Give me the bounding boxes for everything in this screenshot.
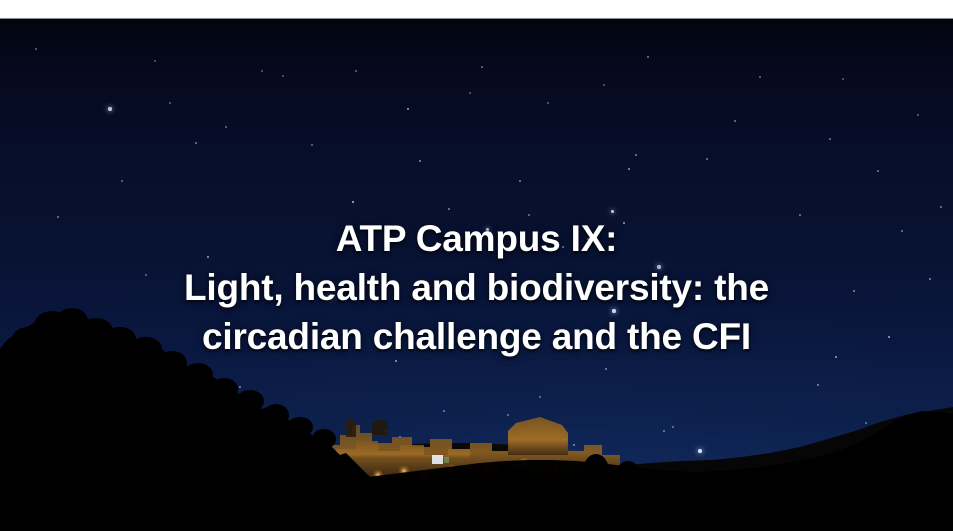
top-band-divider	[0, 18, 953, 19]
title-line-2: Light, health and biodiversity: the	[0, 263, 953, 312]
title-slide: ATP Campus IX: Light, health and biodive…	[0, 0, 953, 531]
title-line-3: circadian challenge and the CFI	[0, 312, 953, 361]
top-white-band	[0, 0, 953, 18]
background-photo: ATP Campus IX: Light, health and biodive…	[0, 19, 953, 531]
slide-title: ATP Campus IX: Light, health and biodive…	[0, 214, 953, 361]
title-line-1: ATP Campus IX:	[0, 214, 953, 263]
